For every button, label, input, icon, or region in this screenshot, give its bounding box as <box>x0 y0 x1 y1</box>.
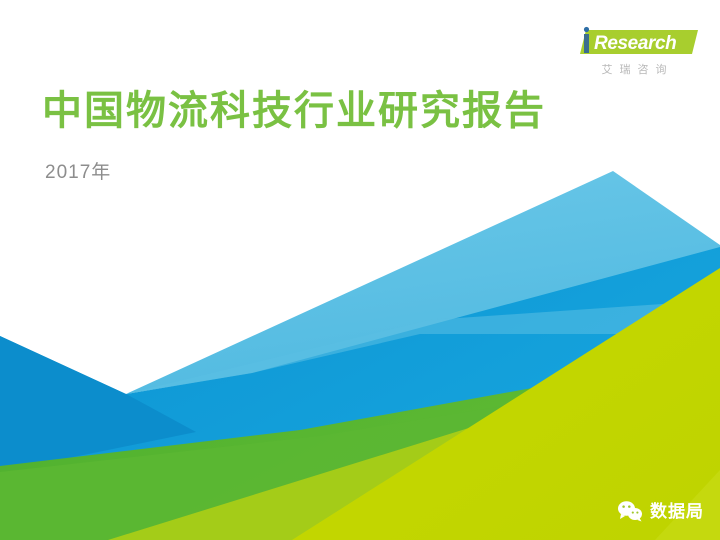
wechat-watermark: 数据局 <box>617 500 704 522</box>
iresearch-logo-subtitle: 艾瑞咨询 <box>570 65 698 76</box>
iresearch-logo: Research 艾瑞咨询 <box>570 24 698 76</box>
logo-wordmark: Research <box>594 33 676 54</box>
logo-i-dot <box>584 27 589 32</box>
page-title: 中国物流科技行业研究报告 <box>42 88 546 134</box>
background-artwork <box>0 0 720 540</box>
report-year: 2017年 <box>45 163 111 182</box>
iresearch-logo-mark: Research <box>570 24 698 58</box>
wechat-watermark-text: 数据局 <box>650 503 704 520</box>
report-cover-slide: Research 艾瑞咨询 中国物流科技行业研究报告 2017年 数据局 <box>0 0 720 540</box>
logo-i-stem <box>584 34 589 53</box>
wechat-icon <box>617 500 643 522</box>
